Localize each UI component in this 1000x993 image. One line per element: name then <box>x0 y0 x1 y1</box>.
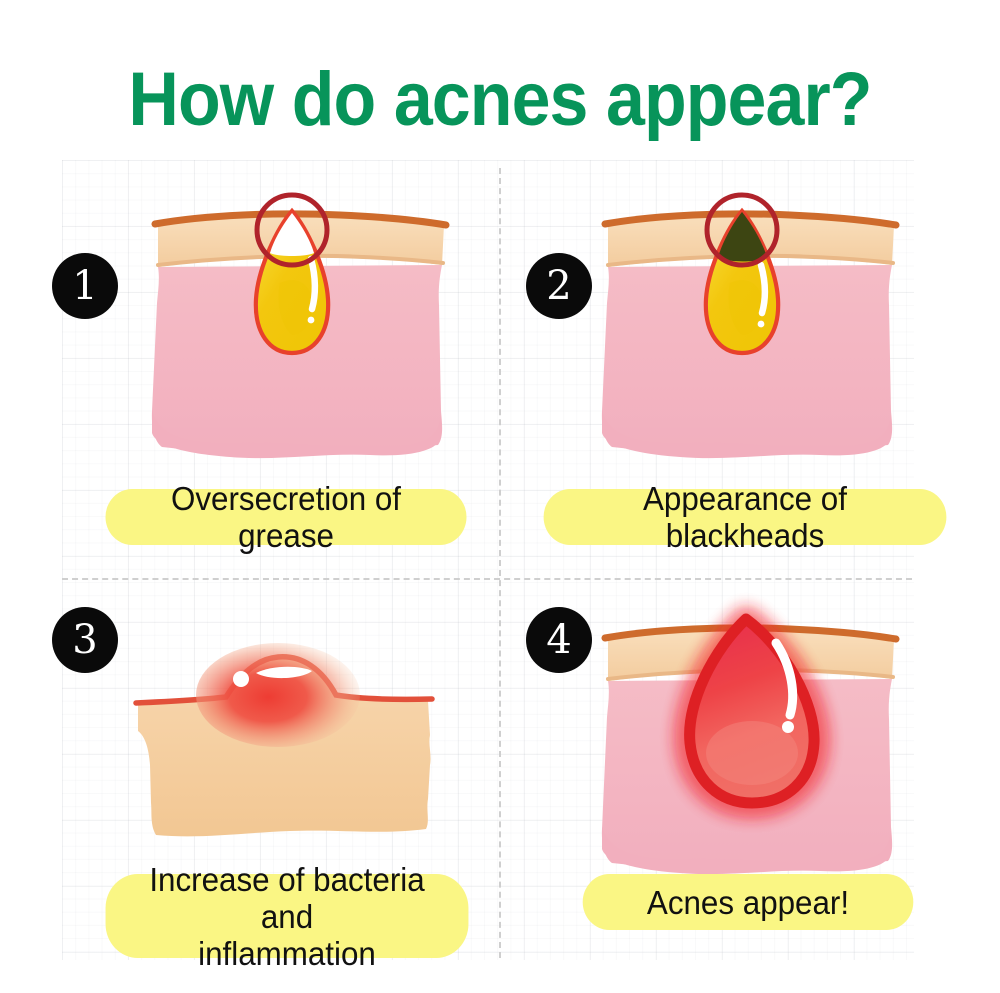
horizontal-divider <box>62 578 912 580</box>
label-step-2: Appearance of blackheads <box>544 489 947 545</box>
step-badge-2: 2 <box>526 253 592 319</box>
bump-highlight-dot <box>233 671 249 687</box>
pimple-highlight-dot <box>782 721 794 733</box>
step-badge-4: 4 <box>526 607 592 673</box>
label-step-3: Increase of bacteria and inflammation <box>106 874 469 958</box>
step-badge-3: 3 <box>52 607 118 673</box>
step-badge-1: 1 <box>52 253 118 319</box>
page-title: How do acnes appear? <box>40 62 960 138</box>
label-step-1: Oversecretion of grease <box>106 489 467 545</box>
label-step-4: Acnes appear! <box>583 874 914 930</box>
inflamed-bump <box>196 643 360 747</box>
